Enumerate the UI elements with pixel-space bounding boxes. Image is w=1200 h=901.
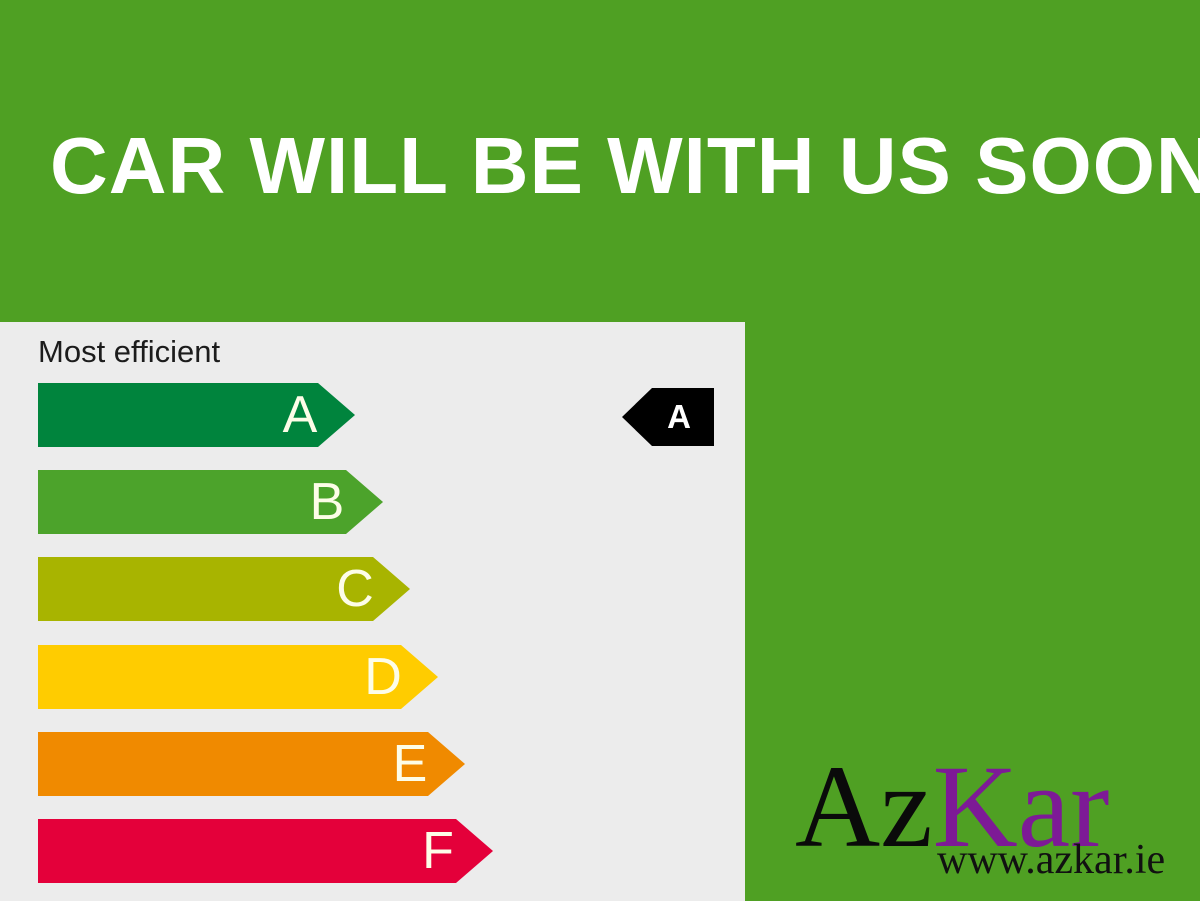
header-banner: CAR WILL BE WITH US SOON: [0, 0, 1200, 322]
energy-rating-panel: Most efficient A B C D E: [0, 322, 745, 901]
energy-bar-letter: D: [360, 645, 406, 709]
energy-bar-c: C: [38, 557, 410, 621]
energy-bar-f: F: [38, 819, 493, 883]
energy-bar-d: D: [38, 645, 438, 709]
energy-bar-letter: B: [304, 470, 350, 534]
page-title: CAR WILL BE WITH US SOON: [50, 118, 1160, 214]
logo-text-az: Az: [795, 741, 933, 872]
current-rating-letter: A: [644, 388, 714, 446]
energy-bar-b: B: [38, 470, 383, 534]
energy-bar-letter: C: [332, 557, 378, 621]
energy-bar-letter: E: [387, 732, 433, 796]
energy-bar-letter: A: [277, 383, 323, 447]
azkar-logo[interactable]: AzKar www.azkar.ie: [795, 748, 1185, 884]
energy-bar-a: A: [38, 383, 355, 447]
current-rating-badge: A: [622, 388, 714, 446]
logo-website-url: www.azkar.ie: [937, 838, 1165, 882]
most-efficient-label: Most efficient: [38, 333, 220, 371]
energy-bar-letter: F: [415, 819, 461, 883]
energy-bar-e: E: [38, 732, 465, 796]
